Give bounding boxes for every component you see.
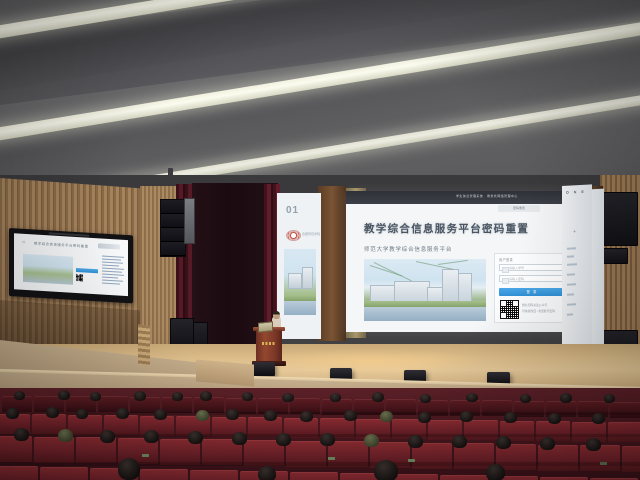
audience-head bbox=[14, 428, 29, 441]
right-screen-text-line bbox=[567, 293, 574, 295]
right-screen-header: O N E bbox=[566, 190, 586, 195]
audience-head bbox=[604, 394, 615, 403]
right-screen-text-line bbox=[567, 247, 576, 249]
tv-qr-code-icon bbox=[76, 274, 83, 281]
wall-mounted-tv: 01 教学综合信息服务平台密码重置 bbox=[9, 228, 133, 303]
presenter-laptop bbox=[258, 321, 273, 333]
qr-eye bbox=[500, 300, 507, 307]
audience-head bbox=[172, 392, 183, 401]
right-screen-text-line bbox=[567, 273, 575, 275]
photo-water bbox=[364, 307, 486, 321]
photo-grass bbox=[284, 295, 316, 301]
audience-head bbox=[344, 410, 357, 421]
podium-emblem bbox=[262, 342, 276, 345]
tv-text-line bbox=[102, 264, 119, 266]
seat bbox=[290, 472, 338, 480]
right-screen-text-line bbox=[567, 255, 574, 257]
audience-head bbox=[258, 466, 276, 480]
stage-light-glow bbox=[250, 348, 490, 374]
audience-head bbox=[520, 394, 531, 403]
audience-head bbox=[116, 408, 129, 419]
campus-photo-thumb bbox=[284, 249, 316, 315]
photo-willow-branch bbox=[438, 260, 468, 265]
audience-head bbox=[232, 432, 247, 445]
university-logo-icon bbox=[286, 230, 301, 241]
seat bbox=[464, 420, 498, 440]
tv-campus-photo bbox=[23, 254, 73, 285]
lectern-podium bbox=[256, 330, 282, 362]
stage-stairs bbox=[138, 324, 150, 365]
tv-text-line bbox=[102, 259, 121, 262]
photo-water bbox=[284, 301, 316, 315]
projection-panel-section: 01 合肥师范学院 bbox=[277, 193, 321, 339]
slide-title: 教学综合信息服务平台密码重置 bbox=[364, 221, 529, 236]
audience-head bbox=[486, 464, 505, 480]
audience-head bbox=[58, 390, 70, 400]
tv-section-number: 01 bbox=[22, 240, 25, 244]
tv-text-line bbox=[102, 282, 120, 284]
audience-head bbox=[6, 408, 19, 419]
wall-column-mid bbox=[318, 186, 346, 341]
login-panel-title: 用户登录 bbox=[499, 257, 513, 262]
seat bbox=[610, 402, 640, 418]
browser-chrome-bar: 学生信息管理系统 · 教务处网络管理中心 bbox=[346, 191, 578, 204]
user-icon bbox=[502, 267, 509, 273]
photo-building bbox=[302, 267, 313, 289]
audience-head bbox=[46, 407, 59, 418]
audience-head bbox=[418, 412, 431, 423]
audience-head bbox=[90, 392, 101, 401]
qr-code-icon bbox=[500, 300, 519, 319]
seat bbox=[140, 469, 188, 480]
seat bbox=[622, 446, 640, 472]
audience-head bbox=[592, 413, 605, 424]
audience-head bbox=[420, 394, 431, 403]
audience-head-camo bbox=[58, 429, 73, 442]
seat bbox=[190, 470, 238, 480]
audience-head bbox=[548, 413, 561, 424]
audience-head bbox=[242, 392, 253, 401]
presenter-head bbox=[273, 311, 280, 319]
audience-head-camo bbox=[196, 410, 209, 421]
right-screen-text-line bbox=[567, 303, 576, 305]
seat-number-tag bbox=[142, 454, 149, 457]
seat bbox=[580, 445, 620, 471]
audience-head bbox=[504, 412, 517, 423]
slide-subtitle: 师范大学教学综合信息服务平台 bbox=[364, 245, 452, 253]
right-screen-text-line bbox=[567, 263, 577, 265]
audience-head bbox=[134, 391, 146, 401]
campus-hero-photo bbox=[364, 259, 486, 321]
speaker-cell bbox=[161, 200, 185, 214]
seat-number-tag bbox=[328, 457, 335, 460]
lock-icon bbox=[502, 278, 509, 284]
seat bbox=[40, 467, 88, 480]
audience-head bbox=[226, 409, 239, 420]
login-button[interactable]: 登 录 bbox=[499, 288, 565, 296]
projection-screen-right: O N E + bbox=[562, 184, 592, 358]
seat bbox=[440, 475, 488, 480]
photo-willow-branch bbox=[374, 262, 412, 281]
tv-text-line bbox=[102, 276, 118, 278]
audience-head-camo bbox=[380, 411, 393, 422]
browser-tab[interactable]: 密码重置 bbox=[498, 205, 540, 212]
speaker-rigging-frame-left bbox=[184, 198, 195, 244]
photo-building bbox=[288, 273, 302, 289]
audience-head-camo bbox=[364, 434, 379, 447]
tv-university-logo-icon bbox=[98, 243, 120, 249]
line-array-speaker-left bbox=[160, 199, 186, 257]
audience-head bbox=[320, 433, 335, 446]
audience-head bbox=[452, 435, 467, 448]
audience-head bbox=[188, 431, 203, 444]
row-shadow bbox=[0, 462, 640, 466]
audience-head bbox=[300, 411, 313, 422]
auditorium-photo: 01 合肥师范学院 学生信息管理系统 · 教务处网络管理中心 密码重置 教学综合… bbox=[0, 0, 640, 480]
tv-text-column bbox=[102, 256, 124, 287]
audience-head bbox=[560, 393, 572, 403]
ceiling bbox=[0, 0, 640, 190]
audience-head bbox=[408, 435, 423, 448]
qr-eye bbox=[512, 300, 519, 307]
university-logo-label: 合肥师范学院 bbox=[302, 232, 320, 236]
username-input[interactable]: 请输入学号 bbox=[499, 264, 565, 271]
main-projection-screen: 学生信息管理系统 · 教务处网络管理中心 密码重置 教学综合信息服务平台密码重置… bbox=[346, 191, 578, 332]
seat bbox=[0, 466, 38, 480]
right-screen-text-line bbox=[567, 313, 573, 315]
qr-caption-line-2: 可快捷找回 / 重置账号密码 bbox=[522, 309, 555, 313]
plus-icon: + bbox=[573, 229, 577, 235]
audience-head bbox=[200, 391, 212, 401]
tv-slide-title: 教学综合信息服务平台密码重置 bbox=[34, 240, 88, 248]
right-screen-text-line bbox=[567, 283, 576, 285]
password-input[interactable]: 请输入密码 bbox=[499, 275, 565, 282]
seat bbox=[608, 422, 640, 442]
audience-seating bbox=[0, 388, 640, 480]
audience-head bbox=[154, 409, 167, 420]
audience-head bbox=[496, 436, 511, 449]
audience-head bbox=[144, 430, 159, 443]
speaker-cell bbox=[161, 228, 185, 242]
audience-head-foreground bbox=[374, 460, 398, 480]
qr-caption-line-1: 微信扫码关注公众号 bbox=[522, 303, 547, 307]
audience-head bbox=[76, 409, 88, 419]
speaker-cell bbox=[161, 242, 185, 256]
audience-head bbox=[264, 410, 277, 421]
tv-login-button bbox=[76, 268, 98, 273]
audience-head-foreground bbox=[118, 458, 140, 480]
audience-head bbox=[282, 393, 294, 402]
audience-head bbox=[276, 433, 291, 446]
login-panel: 用户登录 请输入学号 请输入密码 登 录 微信扫码关注公众号 可快捷找回 / 重… bbox=[494, 253, 570, 323]
section-number: 01 bbox=[286, 205, 299, 216]
audience-head bbox=[586, 438, 601, 451]
audience-head bbox=[100, 430, 115, 443]
audience-head bbox=[460, 411, 473, 422]
qr-eye bbox=[500, 312, 507, 319]
browser-chrome-text: 学生信息管理系统 · 教务处网络管理中心 bbox=[456, 194, 518, 198]
audience-head bbox=[372, 392, 384, 402]
audience-head bbox=[14, 391, 25, 400]
tv-screen: 01 教学综合信息服务平台密码重置 bbox=[14, 233, 128, 296]
audience-head bbox=[330, 393, 341, 402]
stage-monitor-wedge bbox=[253, 362, 275, 376]
audience-head bbox=[540, 437, 555, 450]
speaker-cell bbox=[161, 214, 185, 228]
audience-head bbox=[466, 393, 478, 402]
